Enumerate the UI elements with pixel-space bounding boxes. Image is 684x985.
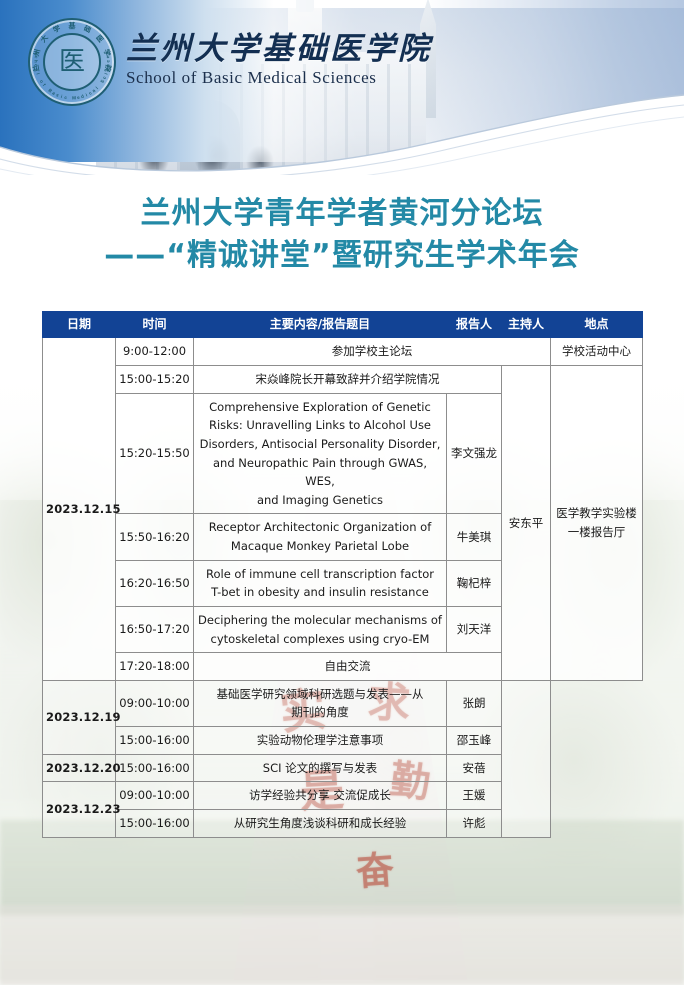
cell-speaker: 牛美琪	[447, 514, 502, 560]
cell-time: 09:00-10:00	[116, 680, 194, 726]
wordmark: 兰州大学基础医学院 School of Basic Medical Scienc…	[126, 32, 432, 91]
cell-date: 2023.12.19	[43, 680, 116, 754]
cell-date: 2023.12.20	[43, 754, 116, 782]
cell-time: 09:00-10:00	[116, 782, 194, 810]
cell-topic: SCI 论文的撰写与发表	[194, 754, 447, 782]
cell-place	[502, 680, 551, 837]
cell-place: 医学教学实验楼一楼报告厅	[551, 366, 643, 681]
cell-topic: 访学经验共分享 交流促成长	[194, 782, 447, 810]
cell-host: 安东平	[502, 366, 551, 681]
cell-speaker: 许彪	[447, 809, 502, 837]
cell-time: 9:00-12:00	[116, 338, 194, 366]
schedule-header-row: 日期 时间 主要内容/报告题目 报告人 主持人 地点	[43, 312, 643, 338]
cell-time: 15:00-16:00	[116, 727, 194, 755]
cell-time: 15:00-16:00	[116, 754, 194, 782]
cell-topic: 基础医学研究领域科研选题与发表——从期刊的角度	[194, 680, 447, 726]
cell-time: 15:00-15:20	[116, 366, 194, 394]
cell-speaker: 张朗	[447, 680, 502, 726]
cell-speaker: 王媛	[447, 782, 502, 810]
col-header-host: 主持人	[502, 312, 551, 338]
schedule-table-body: 2023.12.159:00-12:00参加学校主论坛学校活动中心15:00-1…	[43, 338, 643, 837]
col-header-topic: 主要内容/报告题目	[194, 312, 447, 338]
col-header-place: 地点	[551, 312, 643, 338]
cell-topic: Receptor Architectonic Organization ofMa…	[194, 514, 447, 560]
cell-place: 学校活动中心	[551, 338, 643, 366]
table-row: 2023.12.1909:00-10:00基础医学研究领域科研选题与发表——从期…	[43, 680, 643, 726]
cell-speaker: 鞠杞梓	[447, 560, 502, 606]
table-row: 15:00-16:00从研究生角度浅谈科研和成长经验许彪	[43, 809, 643, 837]
cell-speaker: 刘天洋	[447, 606, 502, 652]
cell-time: 15:00-16:00	[116, 809, 194, 837]
poster-title-line1: 兰州大学青年学者黄河分论坛	[0, 195, 684, 233]
col-header-date: 日期	[43, 312, 116, 338]
poster-page: 实 求 是 勤 奋 兰州大学基础医学院School of Bas	[0, 0, 684, 985]
table-row: 2023.12.2015:00-16:00SCI 论文的撰写与发表安蓓	[43, 754, 643, 782]
cell-topic: Deciphering the molecular mechanisms ofc…	[194, 606, 447, 652]
cell-time: 17:20-18:00	[116, 653, 194, 681]
seal-glyph: 医	[59, 49, 85, 75]
cell-topic: Comprehensive Exploration of GeneticRisk…	[194, 393, 447, 514]
university-seal-icon: 兰州大学基础医学院School of Basic Medical Science…	[28, 18, 116, 106]
poster-title-line2: ——“精诚讲堂”暨研究生学术年会	[0, 237, 684, 275]
table-row: 15:00-16:00实验动物伦理学注意事项邵玉峰	[43, 727, 643, 755]
wordmark-chinese: 兰州大学基础医学院	[126, 32, 432, 68]
cell-time: 16:50-17:20	[116, 606, 194, 652]
cell-topic: 从研究生角度浅谈科研和成长经验	[194, 809, 447, 837]
cell-speaker: 邵玉峰	[447, 727, 502, 755]
wordmark-english: School of Basic Medical Sciences	[126, 69, 432, 88]
cell-topic: 实验动物伦理学注意事项	[194, 727, 447, 755]
cell-time: 15:50-16:20	[116, 514, 194, 560]
col-header-time: 时间	[116, 312, 194, 338]
cell-topic: Role of immune cell transcription factor…	[194, 560, 447, 606]
cell-speaker: 李文强龙	[447, 393, 502, 514]
cell-date: 2023.12.15	[43, 338, 116, 680]
cell-topic: 参加学校主论坛	[194, 338, 551, 366]
col-header-speaker: 报告人	[447, 312, 502, 338]
cell-time: 15:20-15:50	[116, 393, 194, 514]
institution-logo: 兰州大学基础医学院School of Basic Medical Science…	[28, 18, 432, 106]
cell-time: 16:20-16:50	[116, 560, 194, 606]
poster-title-block: 兰州大学青年学者黄河分论坛 ——“精诚讲堂”暨研究生学术年会	[0, 195, 684, 276]
table-row: 2023.12.159:00-12:00参加学校主论坛学校活动中心	[43, 338, 643, 366]
schedule-table-head: 日期 时间 主要内容/报告题目 报告人 主持人 地点	[43, 312, 643, 338]
table-row: 2023.12.2309:00-10:00访学经验共分享 交流促成长王媛	[43, 782, 643, 810]
cell-speaker: 安蓓	[447, 754, 502, 782]
seal-inner-emblem: 医	[43, 33, 101, 91]
schedule-table: 日期 时间 主要内容/报告题目 报告人 主持人 地点 2023.12.159:0…	[42, 311, 643, 838]
cell-topic: 自由交流	[194, 653, 502, 681]
schedule-table-wrapper: 日期 时间 主要内容/报告题目 报告人 主持人 地点 2023.12.159:0…	[42, 311, 642, 838]
cell-topic: 宋焱峰院长开幕致辞并介绍学院情况	[194, 366, 502, 394]
cell-date: 2023.12.23	[43, 782, 116, 837]
table-row: 15:00-15:20宋焱峰院长开幕致辞并介绍学院情况安东平医学教学实验楼一楼报…	[43, 366, 643, 394]
